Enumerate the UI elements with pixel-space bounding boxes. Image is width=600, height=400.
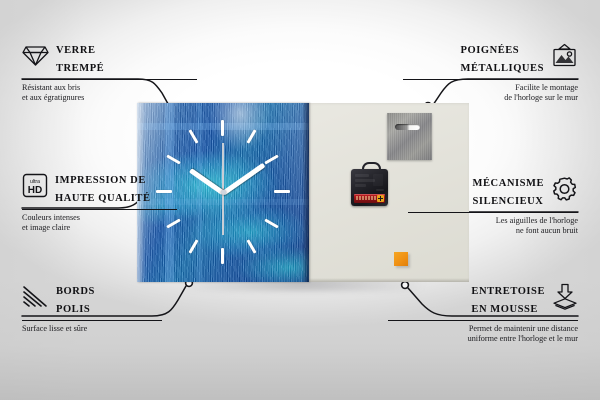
callout-mecanisme-silencieux[interactable]: MÉCANISME SILENCIEUX Les aiguilles de l'… (408, 173, 578, 236)
callout-desc-line2: uniforme entre l'horloge et le mur (388, 334, 578, 344)
callout-title-line2: POLIS (56, 304, 90, 315)
tick-mark-3 (274, 190, 290, 193)
tick-mark-12 (221, 120, 224, 136)
mechanism-battery (354, 194, 385, 203)
callout-title-line1: IMPRESSION DE (55, 175, 146, 186)
callout-rule (408, 212, 578, 213)
picture-hanger-icon (551, 43, 578, 73)
callout-desc-line1: Résistant aux bris (22, 83, 197, 93)
ultra-hd-badge-icon: ultra HD (22, 173, 48, 203)
callout-desc-line2: ne font aucun bruit (408, 226, 578, 236)
callout-desc-line1: Permet de maintenir une distance (388, 324, 578, 334)
callout-title-line2: MÉTALLIQUES (461, 63, 544, 74)
callout-title-line1: ENTRETOISE (471, 286, 545, 297)
callout-poignees-metalliques[interactable]: POIGNÉES MÉTALLIQUES Facilite le montage… (403, 40, 578, 103)
infographic-canvas: VERRE TREMPÉ Résistant aux bris et aux é… (0, 0, 600, 400)
callout-desc-line2: de l'horloge sur le mur (403, 93, 578, 103)
callout-rule (22, 79, 197, 80)
callout-title-line2: HAUTE QUALITÉ (55, 193, 151, 204)
callout-title-line2: EN MOUSSE (471, 304, 538, 315)
callout-rule (22, 320, 162, 321)
tick-mark-6 (221, 248, 224, 264)
clock-mechanism (351, 167, 388, 206)
diamond-icon (22, 44, 49, 72)
callout-desc-line1: Couleurs intenses (22, 213, 177, 223)
callout-entretoise-en-mousse[interactable]: ENTRETOISE EN MOUSSE Permet de maintenir… (388, 281, 578, 344)
callout-rule (403, 79, 578, 80)
clock-center-hub (221, 190, 226, 195)
hanger-keyhole-slot (395, 124, 420, 130)
callout-desc-line2: et image claire (22, 223, 177, 233)
callout-desc-line1: Surface lisse et sûre (22, 324, 162, 334)
callout-rule (22, 209, 177, 210)
foam-spacer-icon (552, 283, 578, 315)
metal-hanger-plate (387, 113, 432, 160)
callout-title-line1: BORDS (56, 286, 95, 297)
callout-title-line2: SILENCIEUX (473, 196, 544, 207)
callout-title-line1: POIGNÉES (461, 45, 520, 56)
callout-title-line1: MÉCANISME (473, 178, 544, 189)
callout-impression-haute-qualite[interactable]: ultra HD IMPRESSION DE HAUTE QUALITÉ Cou… (22, 170, 177, 233)
callout-desc-line2: et aux égratignures (22, 93, 197, 103)
polished-edges-icon (22, 285, 49, 314)
callout-desc-line1: Facilite le montage (403, 83, 578, 93)
foam-spacer (394, 252, 408, 266)
mechanism-body (351, 169, 388, 206)
callout-title-line2: TREMPÉ (56, 63, 104, 74)
gear-icon (551, 176, 578, 207)
callout-bords-polis[interactable]: BORDS POLIS Surface lisse et sûre (22, 281, 162, 334)
callout-title-line1: VERRE (56, 45, 96, 56)
callout-desc-line1: Les aiguilles de l'horloge (408, 216, 578, 226)
callout-verre-trempe[interactable]: VERRE TREMPÉ Résistant aux bris et aux é… (22, 40, 197, 103)
svg-text:HD: HD (28, 185, 42, 196)
callout-rule (388, 320, 578, 321)
